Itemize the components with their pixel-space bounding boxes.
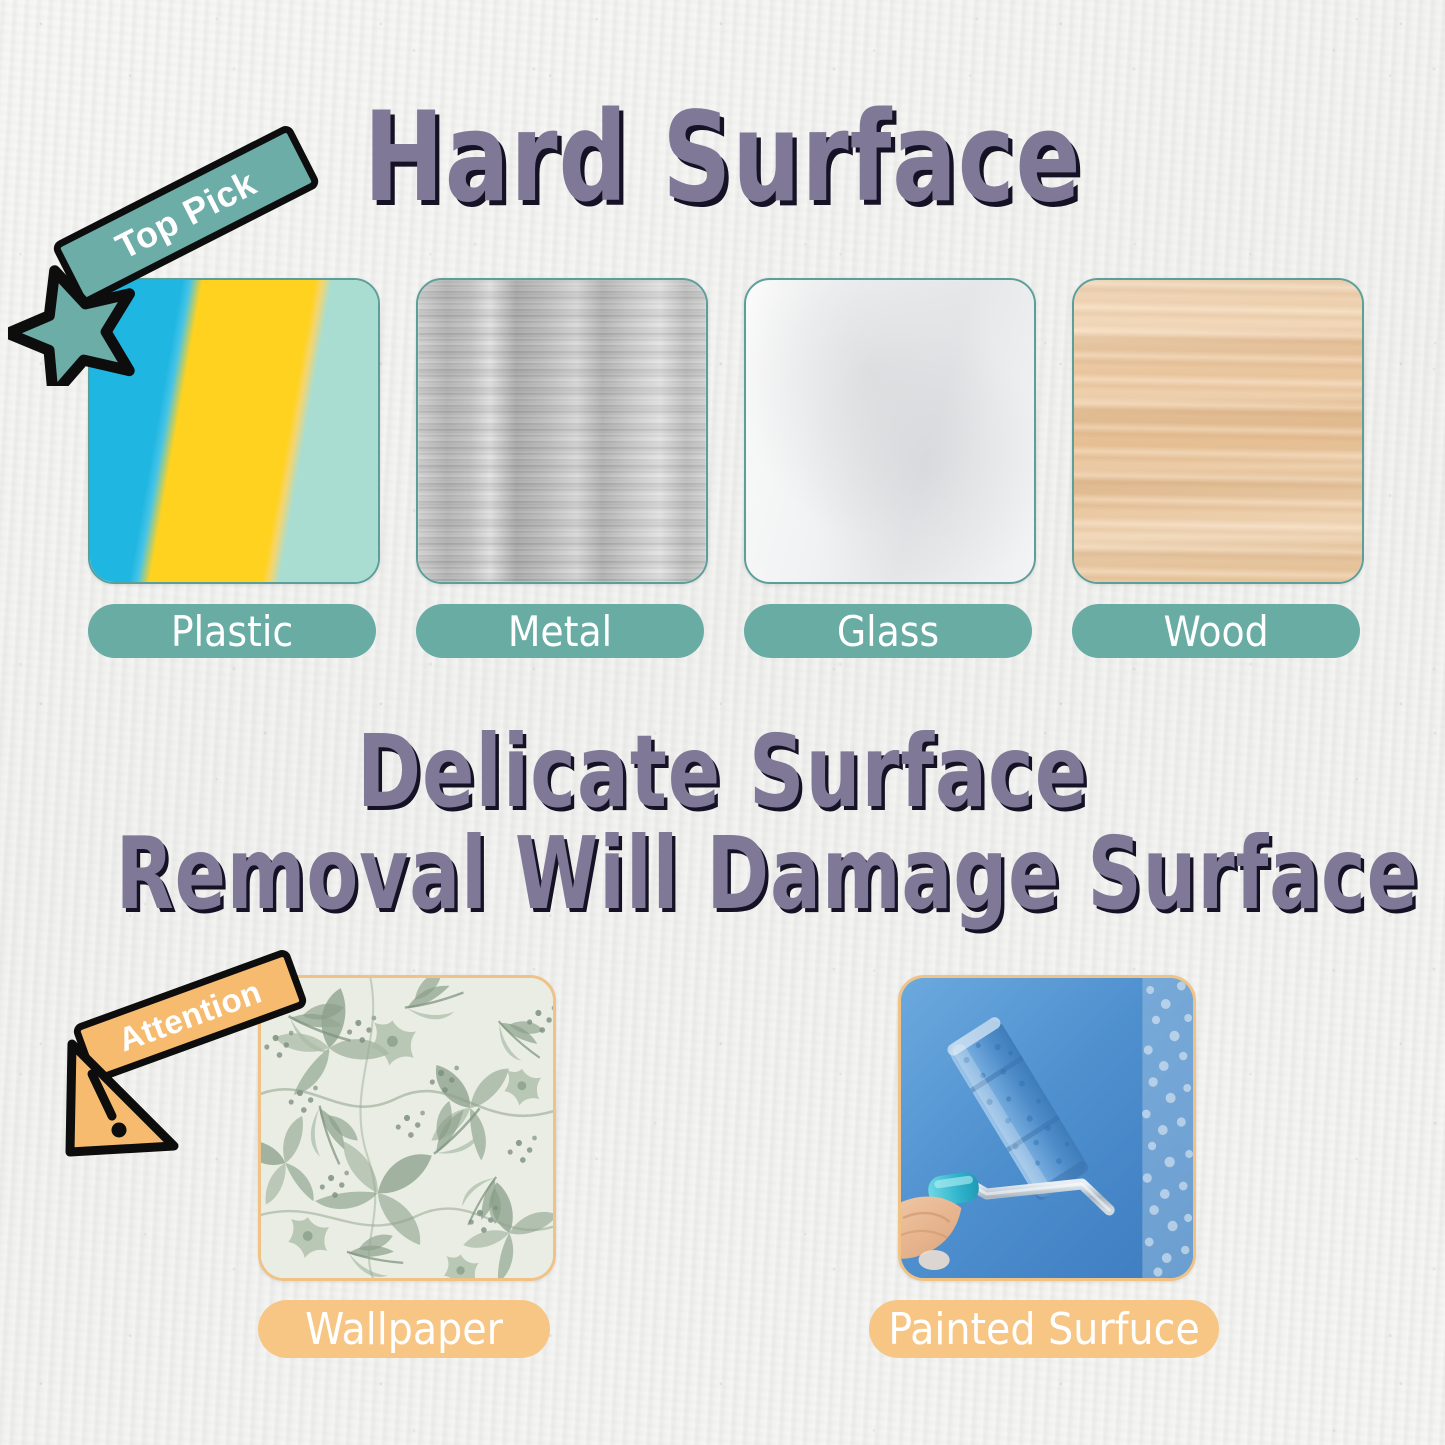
pill-wallpaper-label: Wallpaper: [305, 1304, 503, 1355]
glass-texture: [746, 280, 1034, 582]
attention-label: Attention: [113, 973, 266, 1060]
wallpaper-texture: [261, 978, 553, 1278]
wallpaper-swatch: [258, 975, 556, 1281]
painted-surface-swatch: [898, 975, 1196, 1281]
delicate-surface-title-line2: Removal Will Damage Surface: [116, 824, 1330, 924]
pill-glass-label: Glass: [837, 607, 939, 656]
plastic-texture: [90, 280, 378, 582]
glass-swatch: [744, 278, 1036, 584]
pill-glass[interactable]: Glass: [744, 604, 1032, 658]
infographic-page: Hard Surface Plastic Metal Glass Wood To…: [0, 0, 1445, 1445]
pill-painted-surface-label: Painted Surfuce: [888, 1304, 1199, 1355]
painted-surface-texture: [901, 978, 1193, 1278]
pill-wallpaper[interactable]: Wallpaper: [258, 1300, 550, 1358]
pill-metal[interactable]: Metal: [416, 604, 704, 658]
plastic-swatch: [88, 278, 380, 584]
metal-texture: [418, 280, 706, 582]
pill-wood[interactable]: Wood: [1072, 604, 1360, 658]
wood-texture: [1074, 280, 1362, 582]
pill-painted-surface[interactable]: Painted Surfuce: [869, 1300, 1219, 1358]
pill-metal-label: Metal: [508, 607, 612, 656]
pill-plastic-label: Plastic: [171, 607, 293, 656]
delicate-surface-title-line1: Delicate Surface: [101, 722, 1344, 822]
pill-plastic[interactable]: Plastic: [88, 604, 376, 658]
metal-swatch: [416, 278, 708, 584]
pill-wood-label: Wood: [1163, 607, 1268, 656]
wood-swatch: [1072, 278, 1364, 584]
